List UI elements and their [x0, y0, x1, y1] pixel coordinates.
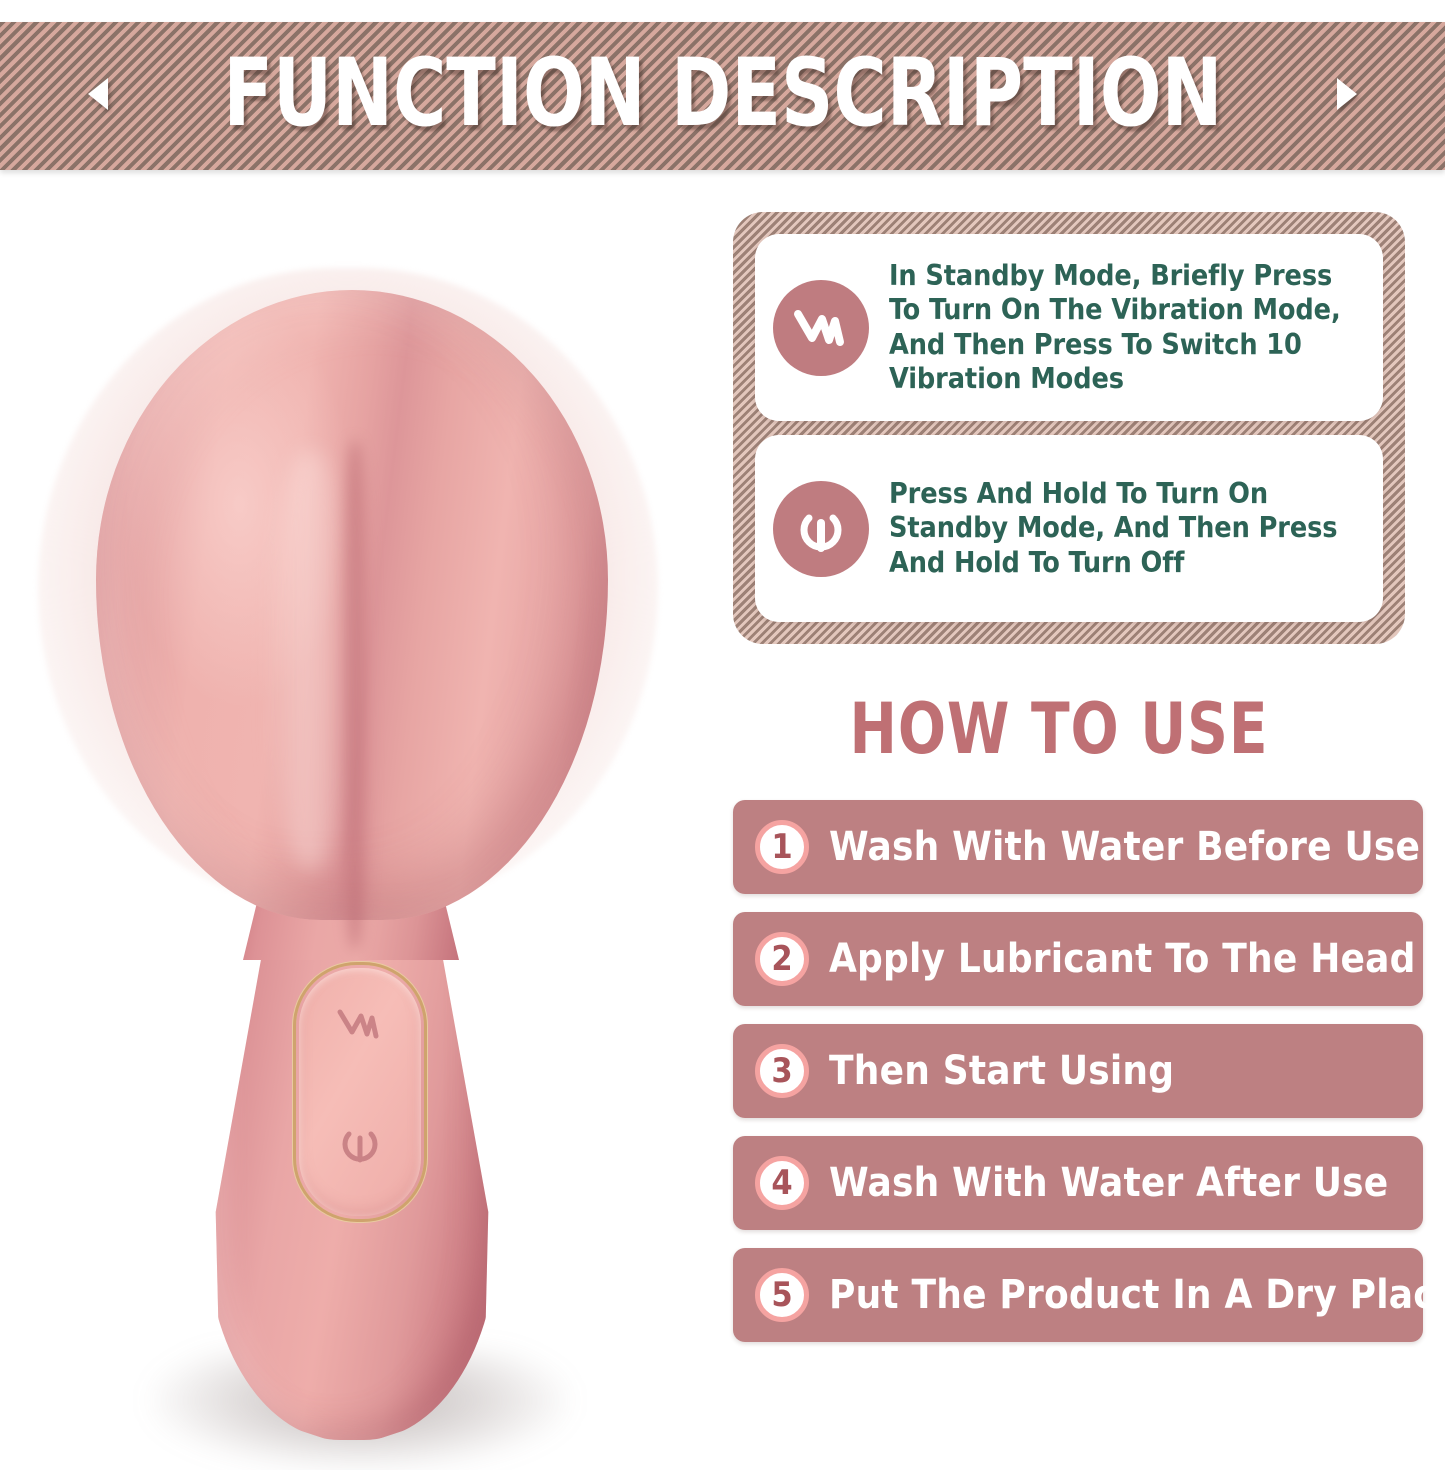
- product-head: [96, 290, 608, 920]
- function-card-text: In Standby Mode, Briefly Press To Turn O…: [889, 259, 1361, 396]
- step-row: 3 Then Start Using: [733, 1024, 1423, 1118]
- step-label: Wash With Water After Use: [829, 1163, 1388, 1203]
- step-label: Apply Lubricant To The Head: [829, 939, 1416, 979]
- power-icon: [773, 481, 869, 577]
- step-row: 4 Wash With Water After Use: [733, 1136, 1423, 1230]
- step-row: 5 Put The Product In A Dry Place: [733, 1248, 1423, 1342]
- vibration-wave-icon: [773, 280, 869, 376]
- function-card: In Standby Mode, Briefly Press To Turn O…: [755, 234, 1383, 421]
- head-center-crease: [338, 440, 372, 950]
- power-icon: [336, 1118, 384, 1173]
- function-card-text: Press And Hold To Turn On Standby Mode, …: [889, 477, 1361, 580]
- triangle-left-icon: [88, 78, 108, 110]
- how-to-use-heading: HOW TO USE: [757, 694, 1362, 764]
- product-image: [0, 200, 720, 1445]
- how-to-use-steps: 1 Wash With Water Before Use 2 Apply Lub…: [733, 800, 1423, 1342]
- function-description-panel: In Standby Mode, Briefly Press To Turn O…: [733, 212, 1405, 644]
- vibration-wave-icon: [334, 1004, 386, 1049]
- step-number-badge: 1: [755, 820, 809, 874]
- step-number-badge: 4: [755, 1156, 809, 1210]
- step-label: Put The Product In A Dry Place: [829, 1275, 1445, 1315]
- step-number-badge: 2: [755, 932, 809, 986]
- step-label: Then Start Using: [829, 1051, 1174, 1091]
- step-row: 2 Apply Lubricant To The Head: [733, 912, 1423, 1006]
- product-control-panel: [296, 965, 424, 1219]
- step-number-badge: 3: [755, 1044, 809, 1098]
- info-column: In Standby Mode, Briefly Press To Turn O…: [723, 0, 1445, 1445]
- function-card: Press And Hold To Turn On Standby Mode, …: [755, 435, 1383, 622]
- step-label: Wash With Water Before Use: [829, 827, 1420, 867]
- step-row: 1 Wash With Water Before Use: [733, 800, 1423, 894]
- step-number-badge: 5: [755, 1268, 809, 1322]
